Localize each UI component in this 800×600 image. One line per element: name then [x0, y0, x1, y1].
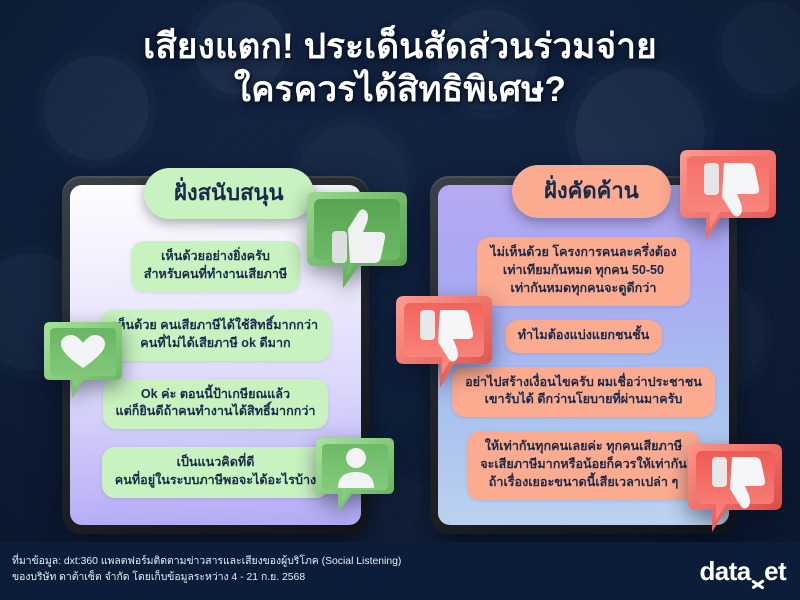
headline: เสียงแตก! ประเด็นสัดส่วนร่วมจ่าย ใครควรไ…	[0, 26, 800, 111]
panel-heading-pro: ฝั่งสนับสนุน	[144, 168, 314, 219]
infographic-canvas: เสียงแตก! ประเด็นสัดส่วนร่วมจ่าย ใครควรไ…	[0, 0, 800, 600]
comment-bubble: Ok ค่ะ ตอนนี้ป้าเกษียณแล้วแต่ก็ยินดีถ้าค…	[103, 379, 329, 430]
source-note: ที่มาข้อมูล: dxt:360 แพลตฟอร์มติดตามข่าว…	[12, 554, 401, 586]
comment-bubble: ทำไมต้องแบ่งแยกชนชั้น	[505, 320, 663, 353]
comment-bubble: เป็นแนวคิดที่ดีคนที่อยู่ในระบบภาษีพอจะได…	[102, 447, 329, 498]
headline-line-1: เสียงแตก! ประเด็นสัดส่วนร่วมจ่าย	[0, 26, 800, 69]
logo-text-part-2: et	[764, 556, 786, 587]
dataxet-logo: data et	[700, 556, 787, 587]
panel-heading-con: ฝั่งคัดค้าน	[512, 165, 671, 218]
headline-line-2: ใครควรได้สิทธิพิเศษ?	[0, 69, 800, 112]
person-icon	[312, 434, 398, 526]
thumbs-down-icon-mid	[392, 292, 496, 402]
heart-icon	[40, 318, 126, 410]
thumbs-down-icon-top	[676, 146, 780, 256]
footer-bar: ที่มาข้อมูล: dxt:360 แพลตฟอร์มติดตามข่าว…	[0, 542, 800, 600]
source-line-2: ของบริษัท ดาต้าเซ็ต จำกัด โดยเก็บข้อมูลร…	[12, 570, 401, 586]
comment-bubble: ให้เท่ากันทุกคนเลยค่ะ ทุกคนเสียภาษีจะเสี…	[467, 431, 700, 500]
logo-text-part-1: data	[700, 556, 751, 587]
comment-bubble: เห็นด้วย คนเสียภาษีได้ใช้สิทธิ์มากกว่าคน…	[100, 310, 331, 361]
comment-bubble: ไม่เห็นด้วย โครงการคนละครึ่งต้องเท่าเทีย…	[477, 237, 689, 306]
comment-bubble: เห็นด้วยอย่างยิ่งครับสำหรับคนที่ทำงานเสี…	[131, 241, 300, 292]
source-line-1: ที่มาข้อมูล: dxt:360 แพลตฟอร์มติดตามข่าว…	[12, 554, 401, 570]
thumbs-down-icon-bottom	[684, 440, 786, 546]
thumbs-up-icon	[303, 188, 411, 304]
